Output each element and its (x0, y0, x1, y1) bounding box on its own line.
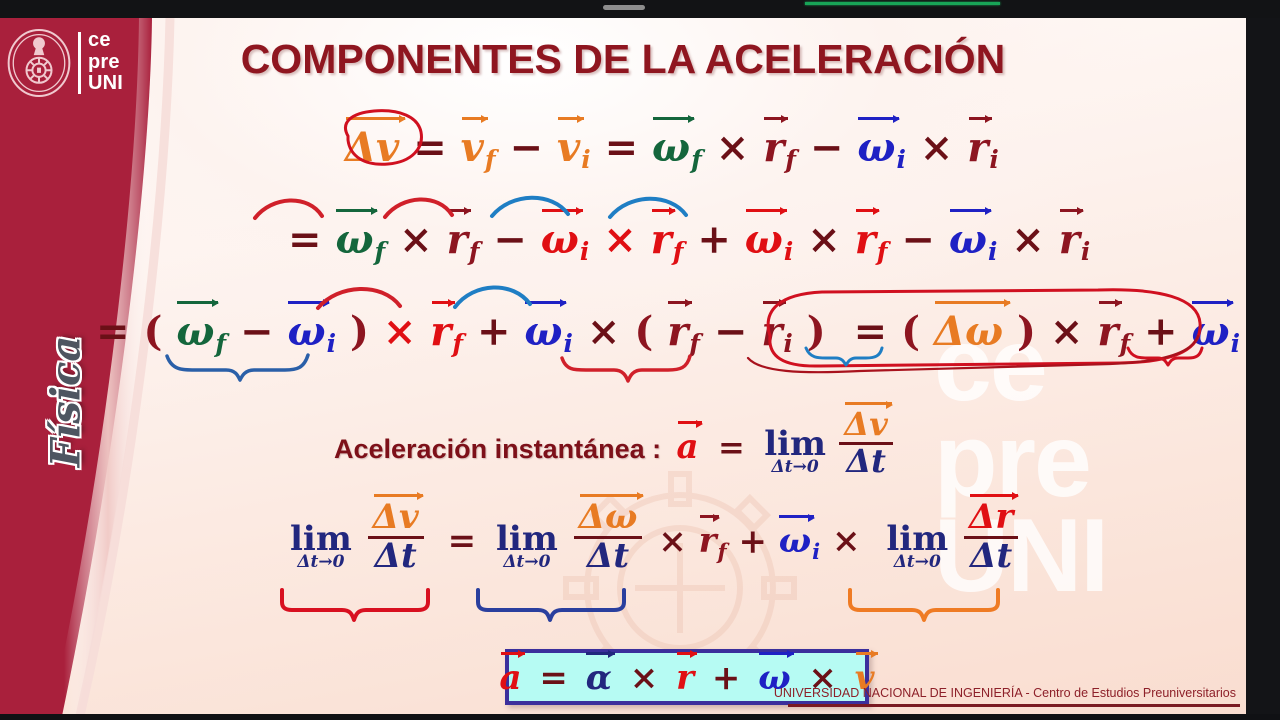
eq1-v-f: v (461, 122, 484, 171)
eq3-times-2: × (587, 308, 621, 355)
eq3-plus-2: + (1144, 308, 1178, 355)
eq2-equals: = (288, 216, 322, 263)
eq2-omega-i-3: ω (949, 214, 987, 263)
eq2-times-3: × (807, 216, 841, 263)
instant-acceleration-line: Aceleración instantánea : a = lim Δt→0 Δ… (334, 406, 897, 477)
eq2-omega-i-2-sub: i (784, 237, 793, 266)
instant-lim-label: lim (764, 427, 826, 461)
limits-plus: + (738, 521, 767, 561)
eq1-r-i: r (967, 122, 988, 171)
eq2-times-1: × (399, 216, 433, 263)
eq3-minus-2: − (714, 308, 748, 355)
equation-line-3: = ( ωf − ωi ) × rf + ωi × ( rf − ri ) = … (96, 306, 1246, 358)
limits-times-1: × (658, 521, 687, 561)
eq1-r-i-sub: i (989, 145, 998, 174)
eq2-minus-1: − (493, 216, 527, 263)
eq3-r-f-1-sub: f (452, 329, 463, 358)
eq3-omega-i-3-sub: i (1231, 329, 1240, 358)
eq2-omega-f-sub: f (375, 237, 386, 266)
limit-2-fraction: Δω Δt (574, 498, 643, 573)
eq1-v-i: v (557, 122, 580, 171)
eq3-equals-2: = (854, 308, 888, 355)
limit-3-den: Δt (964, 536, 1018, 574)
eq3-delta-omega: Δω (934, 306, 1003, 355)
eq2-r-f-1: r (447, 214, 468, 263)
eq1-equals-1: = (413, 124, 447, 171)
eq2-r-f-3-sub: f (877, 237, 888, 266)
drag-handle[interactable] (603, 5, 645, 10)
instant-equals: = (718, 428, 745, 466)
eq1-times-2: × (920, 124, 954, 171)
eq2-r-i: r (1059, 214, 1080, 263)
eq3-minus-1: − (240, 308, 274, 355)
limit-1: lim Δt→0 (290, 522, 352, 571)
eq3-omega-i-2-sub: i (564, 329, 573, 358)
eq1-delta-v: Δv (345, 122, 399, 171)
footer-rule (788, 704, 1240, 707)
instant-acceleration-label: Aceleración instantánea : (334, 434, 661, 464)
limits-r-f-sub: f (718, 539, 727, 564)
limit-3-fraction: Δr Δt (964, 498, 1018, 573)
eq2-omega-f: ω (335, 214, 373, 263)
limit-3: lim Δt→0 (886, 522, 948, 571)
slide-canvas: ce pre UNI (0, 18, 1246, 716)
blue-underbrace-omega (167, 355, 308, 380)
eq3-omega-f: ω (176, 306, 214, 355)
eq3-r-f-2-sub: f (689, 329, 700, 358)
eq3-r-f-3-sub: f (1119, 329, 1130, 358)
eq2-omega-i-2: ω (745, 214, 783, 263)
instant-fraction: Δv Δt (839, 406, 892, 477)
limit-2-lim: lim (496, 522, 558, 556)
eq3-lparen-2: ( (634, 308, 653, 355)
red-brace-limit-1 (282, 590, 428, 620)
sidebar-panel (0, 18, 270, 716)
limit-1-lim: lim (290, 522, 352, 556)
eq2-plus: + (697, 216, 731, 263)
eq3-r-i: r (761, 306, 782, 355)
eq1-r-f-sub: f (785, 145, 796, 174)
eq3-r-f-2: r (667, 306, 688, 355)
limit-1-num: Δv (373, 498, 419, 535)
eq1-r-f: r (763, 122, 784, 171)
instant-lim-to: Δt→0 (764, 459, 826, 476)
eq1-equals-2: = (605, 124, 639, 171)
limit-3-to: Δt→0 (886, 554, 948, 571)
eq3-r-f-3: r (1097, 306, 1118, 355)
eq3-omega-i-2: ω (524, 306, 562, 355)
eq2-times-2: × (603, 216, 637, 263)
eq2-omega-i-1-sub: i (580, 237, 589, 266)
eq3-lparen-3: ( (901, 308, 920, 355)
eq3-plus-1: + (477, 308, 511, 355)
eq2-minus-2: − (901, 216, 935, 263)
eq3-rparen-2: ) (807, 308, 826, 355)
limit-2-to: Δt→0 (496, 554, 558, 571)
eq3-omega-i-1: ω (287, 306, 325, 355)
eq1-omega-f: ω (652, 122, 690, 171)
progress-indicator[interactable] (805, 2, 1000, 5)
eq3-r-f-1: r (430, 306, 451, 355)
equation-line-1: Δv = vf − vi = ωf × rf − ωi × ri (345, 122, 999, 174)
limits-r-f: r (699, 519, 717, 561)
player-topbar (0, 0, 1280, 18)
eq2-omega-i-3-sub: i (988, 237, 997, 266)
instant-denominator: Δt (839, 442, 892, 478)
eq3-equals-1: = (96, 308, 130, 355)
limit-2-den: Δt (574, 536, 643, 574)
screen-root: ce pre UNI (0, 0, 1280, 720)
letterbox-right (1246, 18, 1280, 720)
limits-times-2: × (832, 521, 861, 561)
eq3-rparen-1: ) (350, 308, 369, 355)
limit-1-fraction: Δv Δt (368, 498, 424, 573)
eq2-r-f-1-sub: f (469, 237, 480, 266)
eq3-times-1: × (383, 308, 417, 355)
eq1-omega-f-sub: f (691, 145, 702, 174)
subject-label: Física (43, 312, 90, 492)
red-underbrace-r (562, 356, 690, 381)
eq1-omega-i-sub: i (896, 145, 905, 174)
instant-a-vector: a (677, 425, 699, 467)
eq2-r-f-3: r (855, 214, 876, 263)
eq3-r-i-sub: i (783, 329, 792, 358)
limits-omega-i-sub: i (812, 539, 820, 564)
limit-2-num: Δω (579, 498, 638, 535)
eq1-times-1: × (716, 124, 750, 171)
limit-3-num: Δr (969, 498, 1013, 535)
eq2-r-f-2: r (651, 214, 672, 263)
limit-3-lim: lim (886, 522, 948, 556)
page-title: COMPONENTES DE LA ACELERACIÓN (0, 36, 1246, 83)
letterbox-bottom (0, 714, 1280, 720)
eq1-minus-2: − (810, 124, 844, 171)
eq3-rparen-3: ) (1017, 308, 1036, 355)
eq2-r-f-2-sub: f (673, 237, 684, 266)
limit-2: lim Δt→0 (496, 522, 558, 571)
eq3-omega-f-sub: f (215, 329, 226, 358)
orange-brace-limit-3 (850, 590, 998, 620)
eq3-omega-i-1-sub: i (327, 329, 336, 358)
eq3-lparen-1: ( (143, 308, 162, 355)
limits-equals: = (448, 521, 477, 561)
eq1-minus-1: − (510, 124, 544, 171)
eq1-omega-i: ω (857, 122, 895, 171)
instant-limit: lim Δt→0 (764, 427, 826, 476)
limits-omega-i: ω (779, 519, 811, 561)
equation-line-2: = ωf × rf − ωi × rf + ωi × rf − ωi × ri (288, 214, 1090, 266)
eq1-v-f-sub: f (485, 145, 496, 174)
eq3-times-3: × (1050, 308, 1084, 355)
eq2-omega-i-1: ω (541, 214, 579, 263)
limit-1-den: Δt (368, 536, 424, 574)
limit-1-to: Δt→0 (290, 554, 352, 571)
instant-numerator: Δv (844, 406, 887, 441)
footer-text: UNIVERSIDAD NACIONAL DE INGENIERÍA - Cen… (0, 686, 1246, 700)
eq1-v-i-sub: i (581, 145, 590, 174)
blue-brace-limit-2 (478, 590, 624, 620)
eq2-times-4: × (1011, 216, 1045, 263)
limits-line: lim Δt→0 Δv Δt = lim Δt→0 Δω Δt × rf + ω… (290, 498, 1022, 573)
eq2-r-i-sub: i (1081, 237, 1090, 266)
eq3-omega-i-3: ω (1192, 306, 1230, 355)
blue-arc-3 (455, 287, 530, 307)
